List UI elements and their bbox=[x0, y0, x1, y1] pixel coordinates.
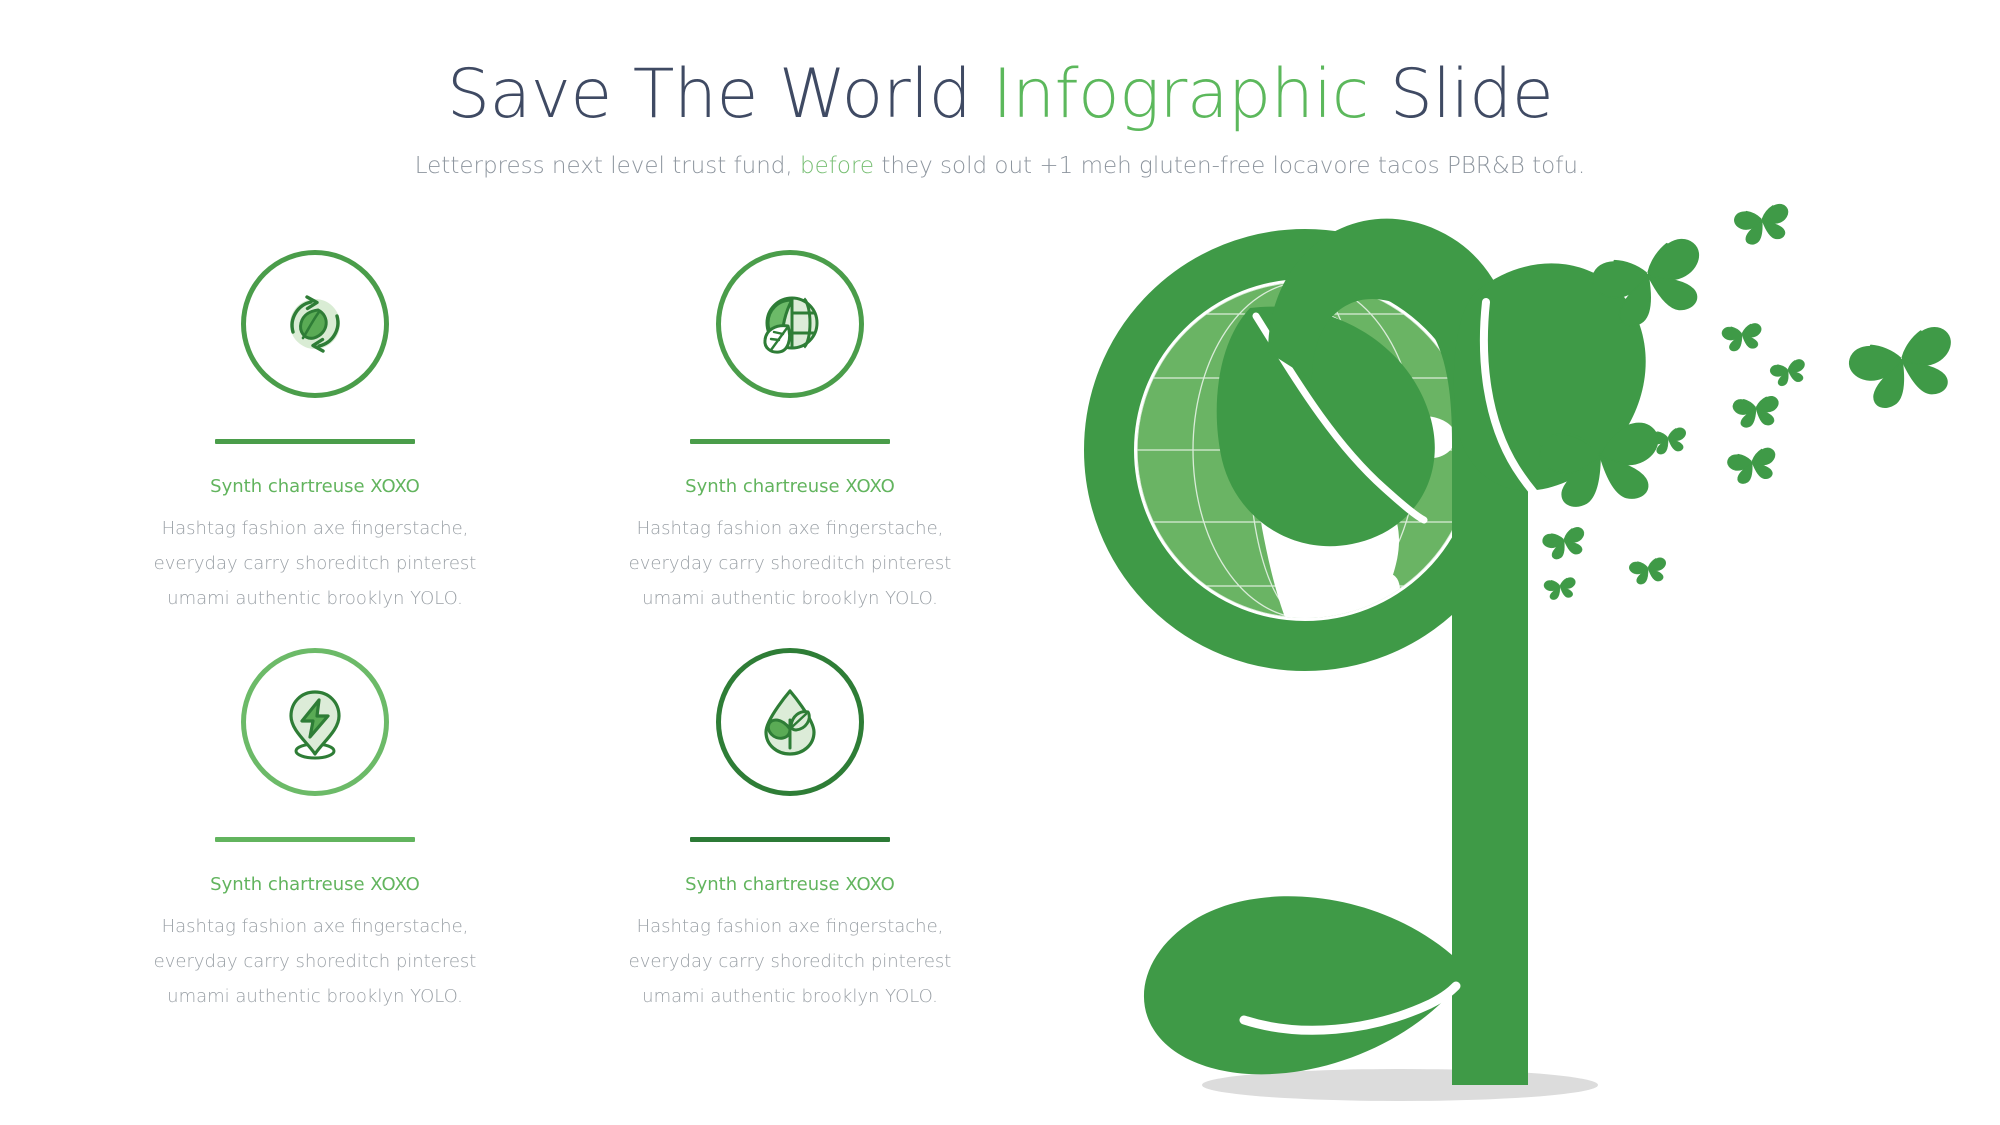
icon-ring-1[interactable] bbox=[241, 250, 389, 398]
icon-ring-4[interactable] bbox=[716, 648, 864, 796]
butterfly-icon bbox=[1628, 557, 1668, 586]
card-body-line-1: Hashtag fashion axe fingerstache, bbox=[150, 909, 480, 944]
butterfly-icon bbox=[1541, 526, 1588, 562]
butterfly-icon bbox=[1733, 203, 1793, 247]
butterfly-icon bbox=[1543, 577, 1577, 601]
butterfly-icon bbox=[1846, 324, 1963, 415]
card-title-3: Synth chartreuse XOXO bbox=[150, 874, 480, 895]
card-body-line-1: Hashtag fashion axe fingerstache, bbox=[625, 909, 955, 944]
card-title-1: Synth chartreuse XOXO bbox=[150, 476, 480, 497]
card-body-line-3: umami authentic brooklyn YOLO. bbox=[150, 979, 480, 1014]
card-body-line-2: everyday carry shoreditch pinterest bbox=[625, 944, 955, 979]
butterfly-icon bbox=[1726, 447, 1780, 486]
subtitle-text-part1: Letterpress next level trust fund, bbox=[415, 153, 800, 179]
icon-ring-2[interactable] bbox=[716, 250, 864, 398]
title-text-part1: Save The World bbox=[447, 55, 993, 134]
card-body-1: Hashtag fashion axe fingerstache, everyd… bbox=[150, 511, 480, 616]
card-divider-3 bbox=[215, 837, 415, 842]
water-drop-sprout-icon bbox=[742, 674, 838, 770]
infographic-card-3[interactable]: Synth chartreuse XOXO Hashtag fashion ax… bbox=[150, 648, 480, 1014]
card-body-line-2: everyday carry shoreditch pinterest bbox=[625, 546, 955, 581]
globe-plant-butterflies-illustration bbox=[1000, 120, 2000, 1125]
card-body-2: Hashtag fashion axe fingerstache, everyd… bbox=[625, 511, 955, 616]
icon-ring-3[interactable] bbox=[241, 648, 389, 796]
card-body-3: Hashtag fashion axe fingerstache, everyd… bbox=[150, 909, 480, 1014]
card-title-4: Synth chartreuse XOXO bbox=[625, 874, 955, 895]
card-body-4: Hashtag fashion axe fingerstache, everyd… bbox=[625, 909, 955, 1014]
infographic-card-2[interactable]: Synth chartreuse XOXO Hashtag fashion ax… bbox=[625, 250, 955, 616]
card-body-line-2: everyday carry shoreditch pinterest bbox=[150, 944, 480, 979]
card-body-line-1: Hashtag fashion axe fingerstache, bbox=[150, 511, 480, 546]
energy-pin-icon bbox=[267, 674, 363, 770]
card-divider-2 bbox=[690, 439, 890, 444]
globe-leaf-icon bbox=[742, 276, 838, 372]
infographic-card-1[interactable]: Synth chartreuse XOXO Hashtag fashion ax… bbox=[150, 250, 480, 616]
card-title-2: Synth chartreuse XOXO bbox=[625, 476, 955, 497]
card-divider-1 bbox=[215, 439, 415, 444]
card-body-line-3: umami authentic brooklyn YOLO. bbox=[625, 979, 955, 1014]
card-body-line-3: umami authentic brooklyn YOLO. bbox=[625, 581, 955, 616]
infographic-card-4[interactable]: Synth chartreuse XOXO Hashtag fashion ax… bbox=[625, 648, 955, 1014]
bottom-leaf bbox=[1144, 896, 1456, 1074]
card-body-line-2: everyday carry shoreditch pinterest bbox=[150, 546, 480, 581]
recycle-leaf-icon bbox=[267, 276, 363, 372]
card-body-line-1: Hashtag fashion axe fingerstache, bbox=[625, 511, 955, 546]
butterfly-icon bbox=[1732, 396, 1780, 429]
card-body-line-3: umami authentic brooklyn YOLO. bbox=[150, 581, 480, 616]
card-divider-4 bbox=[690, 837, 890, 842]
butterfly-icon bbox=[1721, 323, 1764, 353]
slide-root: Save The World Infographic Slide Letterp… bbox=[0, 0, 2000, 1125]
butterfly-icon bbox=[1769, 358, 1808, 388]
subtitle-accent-word: before bbox=[800, 153, 874, 179]
